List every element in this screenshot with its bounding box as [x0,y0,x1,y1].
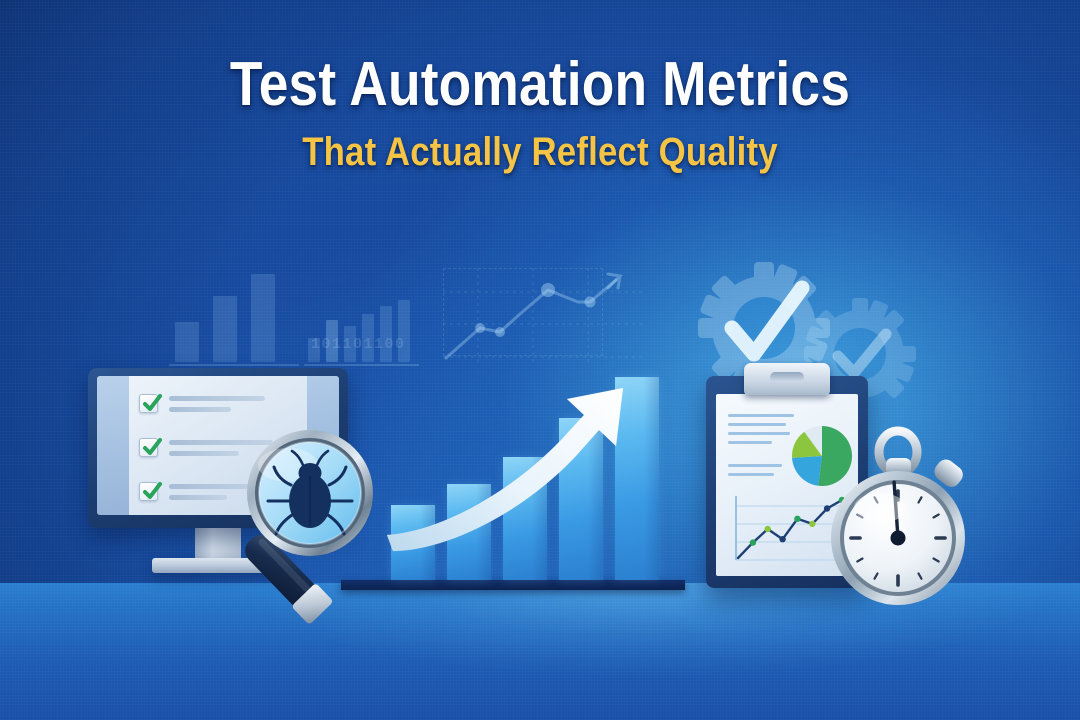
text-line [169,396,265,401]
pie-slice-blocked [792,456,822,486]
clipboard-text-line [728,414,794,417]
page-title: Test Automation Metrics [76,52,1005,118]
clipboard-text-line [728,473,774,476]
hero-title-block: Test Automation Metrics That Actually Re… [0,52,1080,175]
clipboard-text-line [728,441,772,444]
line-graph-marker [765,526,771,532]
stopwatch [826,430,986,608]
clipboard-text-line [728,464,782,467]
line-graph-marker [794,516,800,522]
magnifying-glass-with-bug [188,423,408,608]
growth-arrow-up-right [385,300,715,590]
stopwatch-glass-glare [854,493,906,523]
stopwatch-hub [891,531,906,546]
clipboard-clip-hole [770,372,804,382]
page-subtitle: That Actually Reflect Quality [70,130,1010,175]
line-graph-marker [779,536,785,542]
checkbox-checked-icon[interactable] [139,394,158,413]
line-graph-marker [809,521,815,527]
clipboard-clip [744,363,830,395]
clipboard-text-line [728,432,790,435]
checklist-text-lines [169,394,265,412]
checkbox-checked-icon[interactable] [139,482,158,501]
growth-bar-chart [385,300,685,585]
checklist-row[interactable] [139,394,265,413]
ghost-bar-chart-left [175,272,295,362]
clipboard-text-line [728,423,786,426]
line-graph-marker [750,539,756,545]
stopwatch-crown [879,431,917,476]
checkbox-checked-icon[interactable] [139,438,158,457]
text-line [169,407,231,412]
hero-banner: 101101100 [0,0,1080,720]
